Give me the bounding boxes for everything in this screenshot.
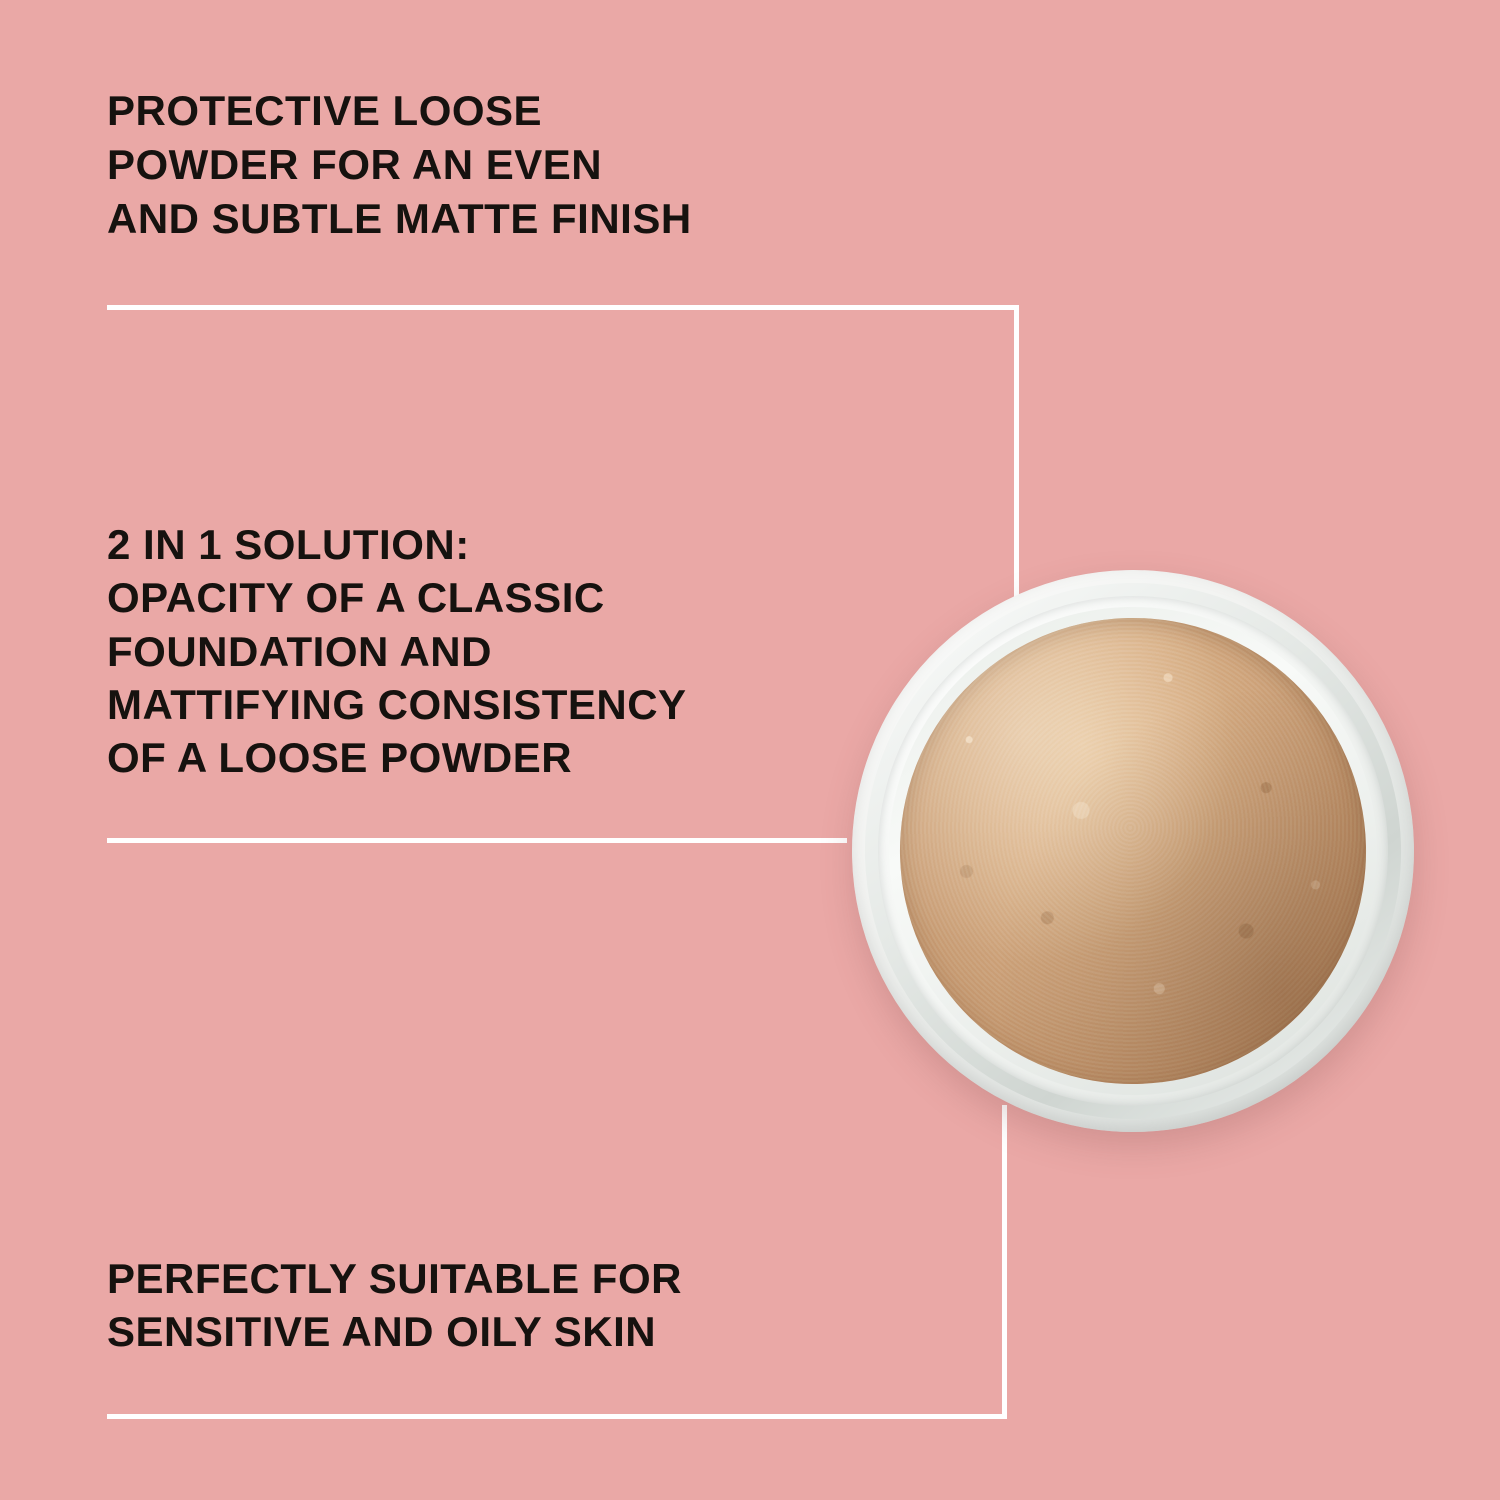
divider-lower-vertical [1002,1105,1007,1418]
jar-outer-rim [820,538,1446,1164]
loose-powder-jar-image [852,570,1414,1132]
divider-top-horizontal [107,305,1019,310]
bottom-claim-text: PERFECTLY SUITABLE FOR SENSITIVE AND OIL… [107,1252,682,1359]
divider-middle-horizontal [107,838,847,843]
product-infographic: PROTECTIVE LOOSE POWDER FOR AN EVEN AND … [0,0,1500,1500]
middle-claim-text: 2 IN 1 SOLUTION: OPACITY OF A CLASSIC FO… [107,518,687,785]
top-claim-text: PROTECTIVE LOOSE POWDER FOR AN EVEN AND … [107,84,692,245]
divider-bottom-horizontal [107,1414,1007,1419]
